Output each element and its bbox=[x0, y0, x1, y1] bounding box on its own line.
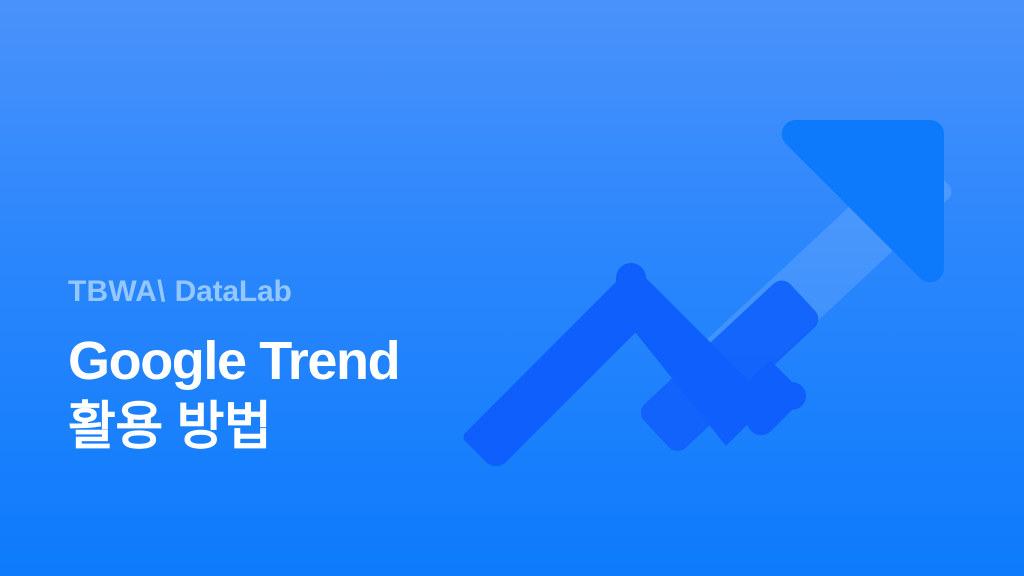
headline-primary: Google Trend bbox=[68, 333, 488, 390]
trending-up-arrow-graphic bbox=[440, 96, 960, 472]
headline-secondary: 활용 방법 bbox=[68, 398, 488, 456]
text-block: TBWA\DataLab Google Trend 활용 방법 bbox=[68, 277, 488, 456]
brand-logo: TBWA\DataLab bbox=[68, 277, 488, 307]
arrow-zigzag-stroke bbox=[440, 263, 823, 472]
brand-mark-text: TBWA\ bbox=[68, 275, 166, 308]
slide-canvas: TBWA\DataLab Google Trend 활용 방법 bbox=[0, 0, 1024, 576]
brand-sub-text: DataLab bbox=[175, 275, 292, 308]
